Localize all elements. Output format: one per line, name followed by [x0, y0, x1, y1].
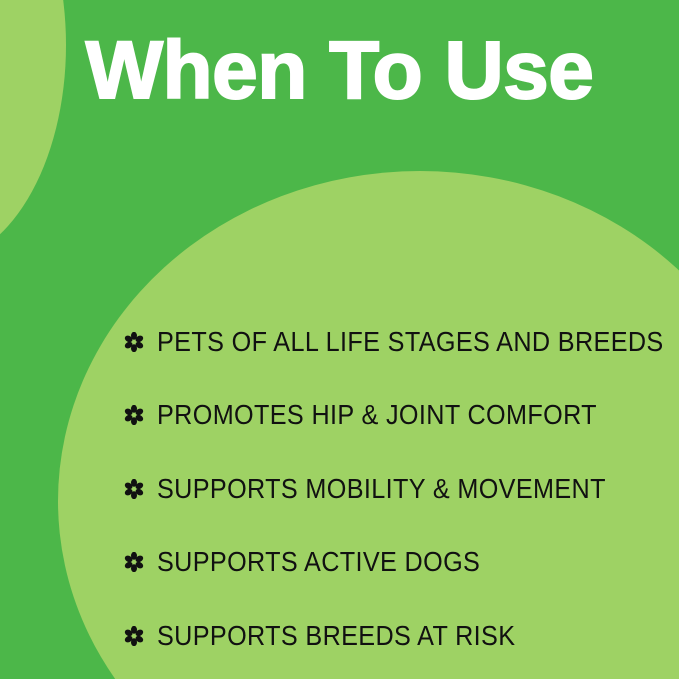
- page-title: When To Use: [86, 28, 594, 114]
- infographic-canvas: When To Use PETS OF ALL LIFE STAGES AN: [0, 0, 679, 679]
- six-petal-flower-asterisk-icon: [124, 479, 144, 499]
- page-title-container: When To Use: [0, 28, 679, 114]
- list-item-label: SUPPORTS ACTIVE DOGS: [157, 548, 480, 576]
- list-item-label: SUPPORTS MOBILITY & MOVEMENT: [157, 475, 606, 503]
- list-item: PETS OF ALL LIFE STAGES AND BREEDS: [124, 305, 664, 379]
- list-item-label: PETS OF ALL LIFE STAGES AND BREEDS: [157, 328, 664, 356]
- six-petal-flower-asterisk-icon: [124, 332, 144, 352]
- list-item: PROMOTES HIP & JOINT COMFORT: [124, 379, 664, 453]
- list-item-label: PROMOTES HIP & JOINT COMFORT: [157, 401, 597, 429]
- list-item: SUPPORTS MOBILITY & MOVEMENT: [124, 452, 664, 526]
- six-petal-flower-asterisk-icon: [124, 405, 144, 425]
- list-item: SUPPORTS ACTIVE DOGS: [124, 526, 664, 600]
- list-item-label: SUPPORTS BREEDS AT RISK: [157, 622, 515, 650]
- six-petal-flower-asterisk-icon: [124, 626, 144, 646]
- benefits-list: PETS OF ALL LIFE STAGES AND BREEDS PROMO: [124, 305, 664, 673]
- six-petal-flower-asterisk-icon: [124, 552, 144, 572]
- list-item: SUPPORTS BREEDS AT RISK: [124, 599, 664, 673]
